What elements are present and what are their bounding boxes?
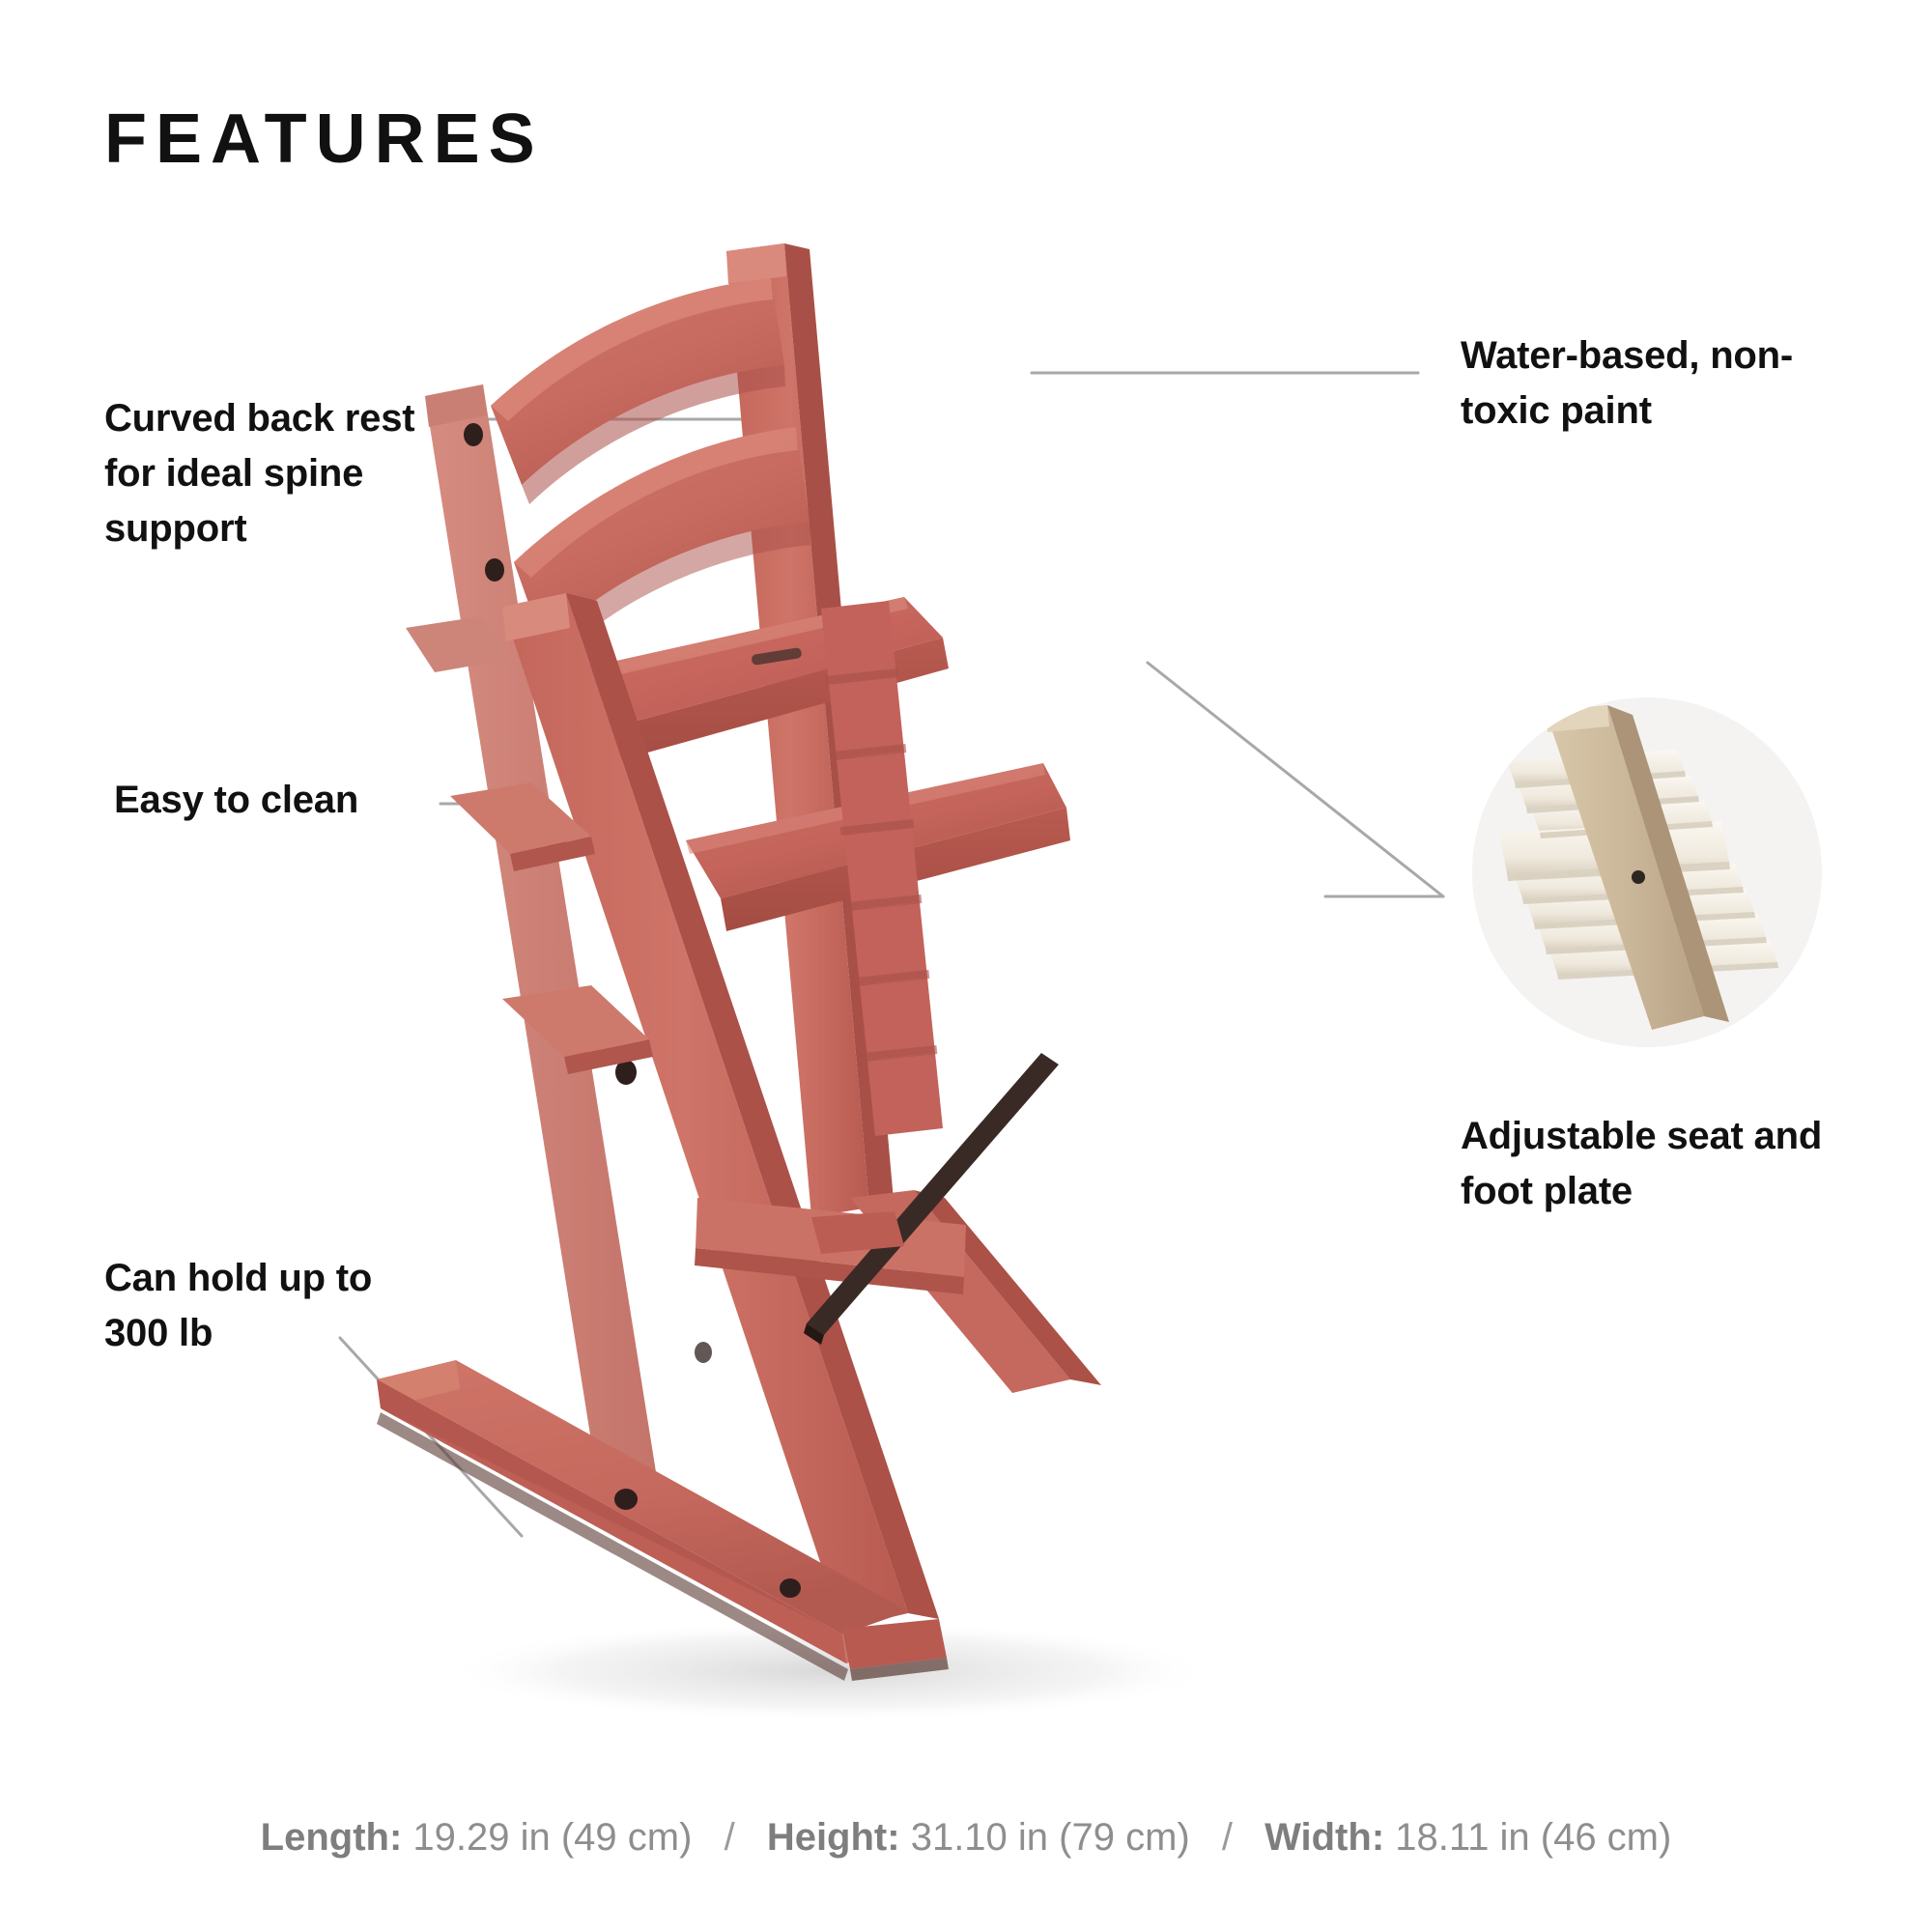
side-wing-near-lower: [502, 985, 653, 1074]
detail-inset-adjustable-seat: [1472, 697, 1822, 1047]
dimension-value-height: 31.10 in (79 cm): [911, 1816, 1190, 1859]
dimension-label-height: Height:: [767, 1816, 900, 1859]
features-infographic: FEATURES: [0, 0, 1932, 1932]
callout-curved-back: Curved back rest for ideal spine support: [104, 391, 433, 555]
dowel-hole: [1632, 870, 1645, 884]
dowel-hole: [780, 1578, 801, 1598]
page-title: FEATURES: [104, 104, 544, 174]
dimension-separator: /: [703, 1816, 756, 1859]
callout-easy-clean: Easy to clean: [114, 773, 442, 828]
callout-can-hold-up: Can hold up to 300 lb: [104, 1251, 423, 1361]
callout-water-based-paint: Water-based, non-toxic paint: [1461, 328, 1847, 439]
dowel-hole: [464, 423, 483, 446]
dowel-hole: [695, 1342, 712, 1363]
dimensions-footer: Length: 19.29 in (49 cm) / Height: 31.10…: [0, 1816, 1932, 1860]
dowel-hole: [485, 558, 504, 582]
dowel-hole: [614, 1489, 638, 1510]
product-illustration: [367, 222, 1449, 1768]
callout-adjustable-seat: Adjustable seat and foot plate: [1461, 1109, 1847, 1219]
dimension-label-width: Width:: [1264, 1816, 1384, 1859]
dimension-value-length: 19.29 in (49 cm): [412, 1816, 692, 1859]
dimension-separator: /: [1201, 1816, 1254, 1859]
dimension-label-length: Length:: [261, 1816, 403, 1859]
dimension-value-width: 18.11 in (46 cm): [1395, 1816, 1671, 1859]
